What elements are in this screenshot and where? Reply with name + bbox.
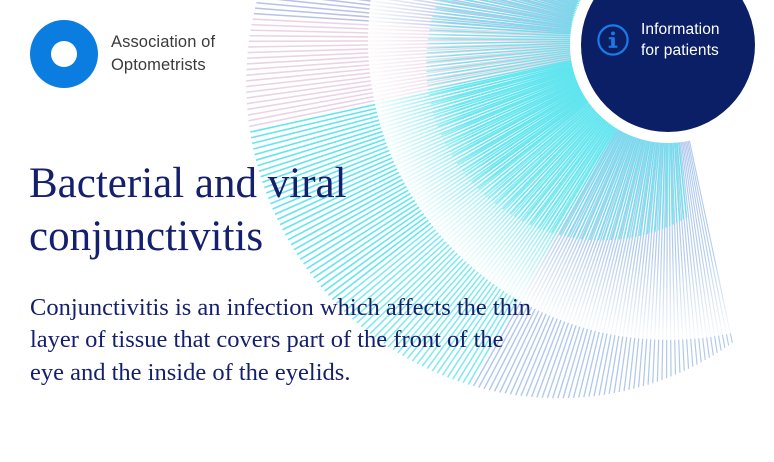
organisation-name-line-2: Optometrists (111, 54, 215, 77)
page-title-line-1: Bacterial and viral (29, 160, 347, 207)
badge-text-line-1: Information (641, 19, 720, 40)
page-title: Bacterial and viral conjunctivitis (29, 157, 469, 263)
ring-logo-icon (30, 20, 98, 88)
poster-page: Information for patients Association of … (0, 0, 774, 462)
badge-content: Information for patients (596, 19, 720, 61)
ring-logo-hole (51, 41, 77, 67)
info-circle-icon (596, 23, 630, 57)
badge-text: Information for patients (641, 19, 720, 61)
organisation-name-line-1: Association of (111, 31, 215, 54)
intro-paragraph: Conjunctivitis is an infection which aff… (30, 292, 540, 390)
badge-text-line-2: for patients (641, 40, 720, 61)
organisation-logo: Association of Optometrists (30, 20, 215, 88)
information-badge: Information for patients (570, 0, 766, 143)
organisation-name: Association of Optometrists (111, 31, 215, 77)
page-title-line-2: conjunctivitis (29, 213, 263, 260)
